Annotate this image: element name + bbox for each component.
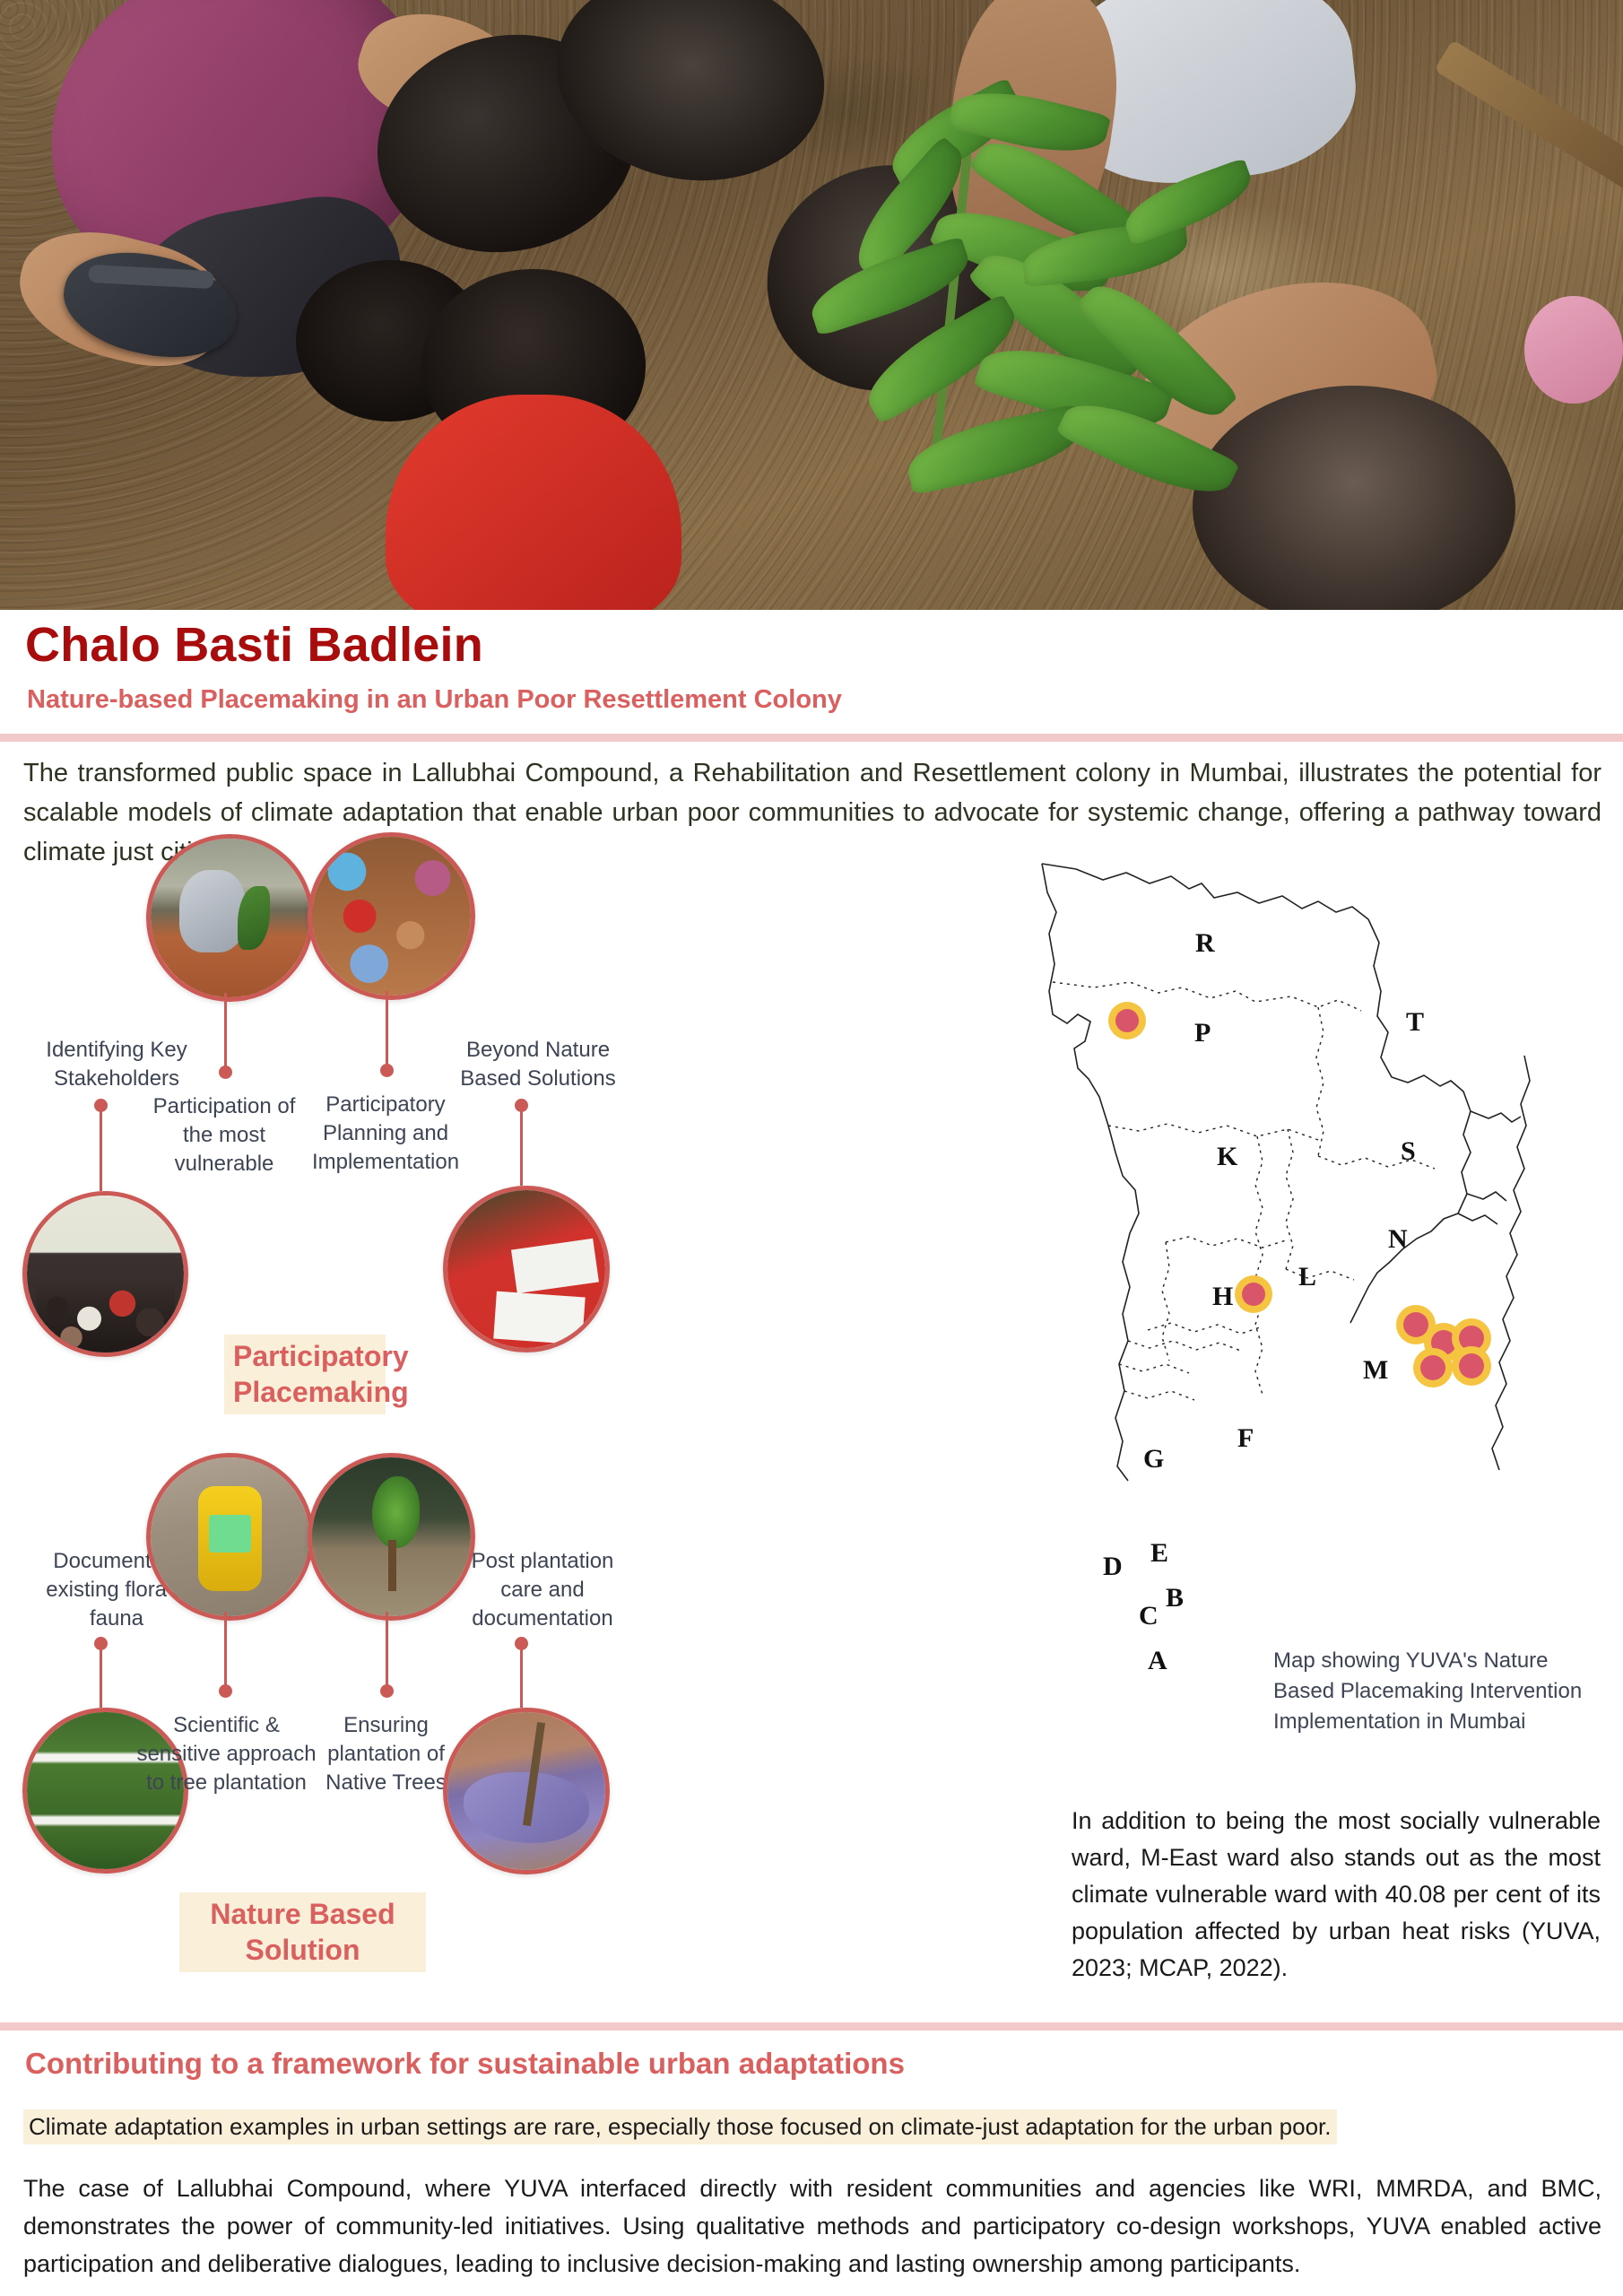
ward-label-C: C (1139, 1601, 1159, 1631)
connector-dot (219, 1684, 232, 1698)
tag-line-1: Participatory (233, 1340, 409, 1372)
connector-line (100, 1105, 102, 1191)
photo-circle-sapling (308, 1453, 475, 1621)
ward-label-S: S (1401, 1136, 1416, 1167)
ward-label-K: K (1217, 1142, 1237, 1172)
woman-planting-photo (151, 839, 309, 997)
diagram-label-participation-most-vulnerable: Participation of the most vulnerable (139, 1092, 309, 1178)
native-sapling-photo (312, 1457, 471, 1616)
ward-label-L: L (1298, 1262, 1316, 1292)
tag-line-2: Placemaking (233, 1376, 409, 1408)
ward-label-M: M (1363, 1355, 1388, 1386)
process-diagram: Identifying Key Stakeholders Participati… (0, 861, 1031, 2000)
map-outline-svg (1022, 857, 1614, 1484)
connector-line (520, 1105, 523, 1186)
ward-label-R: R (1195, 928, 1215, 959)
diagram-label-participatory-planning: Participatory Planning and Implementatio… (300, 1091, 471, 1177)
page-title: Chalo Basti Badlein (25, 617, 483, 673)
ward-label-T: T (1406, 1007, 1424, 1038)
map-note-paragraph: In addition to being the most socially v… (1072, 1803, 1601, 1987)
connector-line (224, 1612, 227, 1686)
connector-dot (380, 1064, 394, 1077)
pink-object (1524, 296, 1623, 404)
photo-circle-kids (308, 832, 475, 1000)
ward-label-G: G (1143, 1444, 1164, 1474)
photo-circle-meeting (22, 1191, 188, 1357)
ward-label-D: D (1103, 1552, 1123, 1582)
page-subtitle: Nature-based Placemaking in an Urban Poo… (27, 685, 842, 715)
diagram-label-scientific-approach: Scientific & sensitive approach to tree … (135, 1711, 318, 1797)
ward-label-A: A (1148, 1646, 1167, 1676)
map-marker-m-east-2 (1431, 1330, 1456, 1355)
diagram-label-beyond-nature-based-solutions: Beyond Nature Based Solutions (448, 1036, 628, 1093)
map-marker-m-east-3 (1459, 1326, 1484, 1351)
map-caption: Map showing YUVA's Nature Based Placemak… (1273, 1646, 1605, 1737)
ward-label-B: B (1166, 1583, 1184, 1613)
connector-line (224, 993, 227, 1067)
connector-line (386, 1612, 388, 1686)
divider-bottom (0, 2022, 1623, 2031)
section-tag-participatory-placemaking: Participatory Placemaking (224, 1335, 386, 1414)
soil-meter-photo (151, 1457, 309, 1616)
children-muddy-hands-photo (312, 837, 471, 996)
title-block: Chalo Basti Badlein Nature-based Placema… (0, 610, 1623, 735)
diagram-label-post-plantation-care: Post plantation care and documentation (453, 1547, 632, 1633)
connector-dot (219, 1065, 232, 1079)
ward-label-P: P (1194, 1018, 1211, 1048)
connector-line (520, 1643, 523, 1708)
bottom-paragraph: The case of Lallubhai Compound, where YU… (23, 2170, 1601, 2283)
ward-label-E: E (1150, 1538, 1168, 1569)
divider-top (0, 734, 1623, 742)
section-tag-nature-based-solution: Nature Based Solution (179, 1892, 426, 1972)
connector-line (386, 991, 388, 1065)
photo-circle-planting (146, 834, 314, 1002)
photo-circle-post-plantation (443, 1708, 610, 1874)
photo-circle-soil-meter (146, 1453, 314, 1621)
mumbai-ward-map: R P T K S H L N M F G D E B C A (1022, 857, 1614, 1484)
map-marker-m-east-1 (1403, 1312, 1428, 1337)
meeting-workshop-photo (27, 1196, 184, 1352)
ward-label-H: H (1212, 1282, 1233, 1312)
map-marker-m-east-5 (1459, 1353, 1484, 1378)
post-plantation-care-photo (447, 1712, 605, 1870)
photo-circle-drawing (443, 1186, 610, 1352)
map-marker-h-ward (1242, 1283, 1265, 1306)
ward-label-F: F (1237, 1423, 1254, 1454)
map-marker-p-ward (1115, 1009, 1139, 1032)
ward-label-N: N (1388, 1224, 1408, 1255)
diagram-label-identifying-key-stakeholders: Identifying Key Stakeholders (18, 1036, 215, 1093)
connector-dot (380, 1684, 394, 1698)
child-drawing-photo (447, 1190, 605, 1348)
hero-photo (0, 0, 1623, 610)
map-marker-m-east-4 (1420, 1355, 1445, 1380)
connector-line (100, 1643, 102, 1708)
bottom-section-heading: Contributing to a framework for sustaina… (25, 2047, 905, 2081)
bottom-highlight-text: Climate adaptation examples in urban set… (23, 2109, 1337, 2144)
